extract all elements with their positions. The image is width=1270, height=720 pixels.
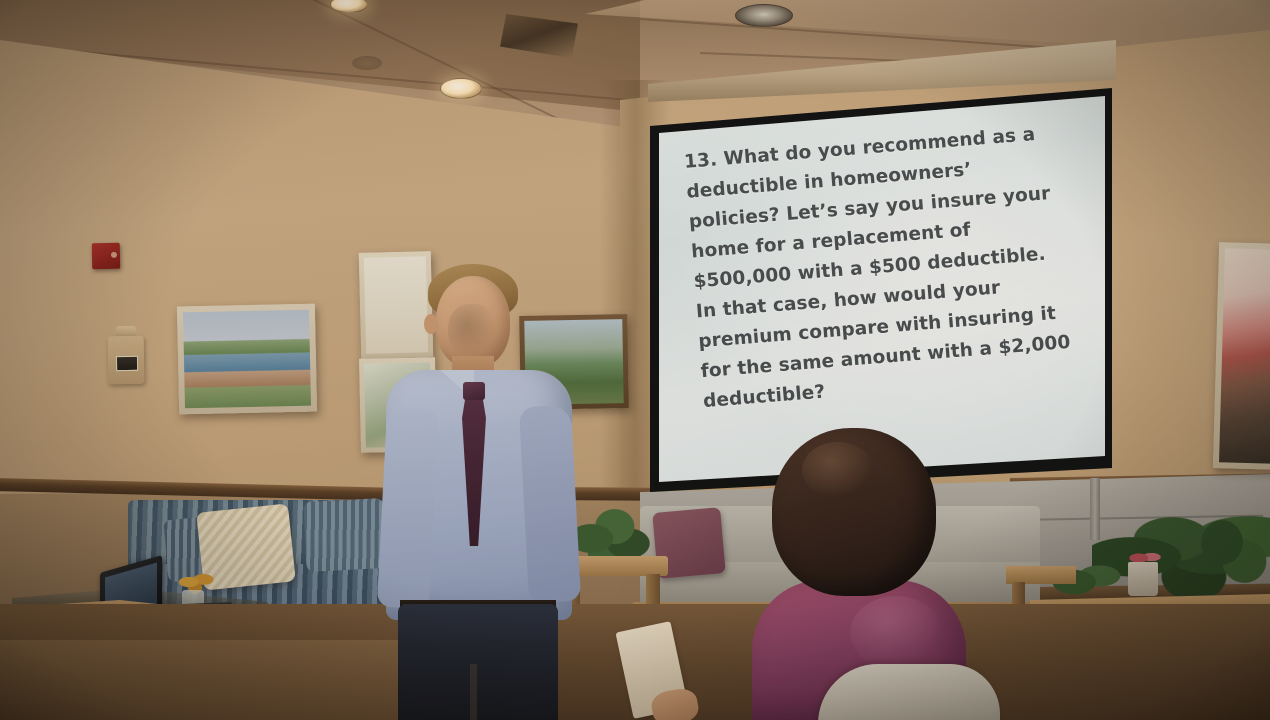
standing-presenter (378, 258, 588, 720)
framed-tall-artwork (1213, 242, 1270, 470)
attendee-shoulder-highlight (850, 596, 942, 670)
smoke-detector-icon (352, 56, 382, 70)
thermostat-icon[interactable] (108, 336, 145, 385)
presenter-trousers (398, 604, 558, 720)
potted-plant-far-right (1190, 508, 1270, 594)
ceiling-speaker-icon (735, 4, 793, 27)
attendee-chair (818, 664, 1000, 720)
meeting-room: 13. What do you recommend as a deductibl… (0, 0, 1270, 720)
recessed-light-icon (440, 78, 482, 99)
painting-canvas (1219, 248, 1270, 463)
seated-attendee (730, 428, 980, 720)
attendee-hair-highlight (802, 442, 874, 498)
presenter-tie-knot (463, 382, 485, 400)
video-frame: 13. What do you recommend as a deductibl… (0, 0, 1270, 720)
flower-pot (1128, 562, 1158, 596)
projection-screen[interactable]: 13. What do you recommend as a deductibl… (659, 96, 1105, 482)
presenter-leg-separation (470, 664, 477, 720)
framed-landscape-painting (177, 304, 317, 415)
fire-alarm-pull-station-icon[interactable] (92, 243, 120, 269)
presenter-right-arm (519, 405, 581, 603)
throw-pillow-striped (303, 498, 387, 572)
presenter-ear (424, 314, 438, 334)
presenter-left-arm (377, 407, 439, 609)
painting-canvas (183, 310, 311, 409)
slide-question-text: 13. What do you recommend as a deductibl… (683, 116, 1103, 417)
thermostat-cap (116, 326, 136, 336)
presenter-face-shading (448, 304, 496, 356)
